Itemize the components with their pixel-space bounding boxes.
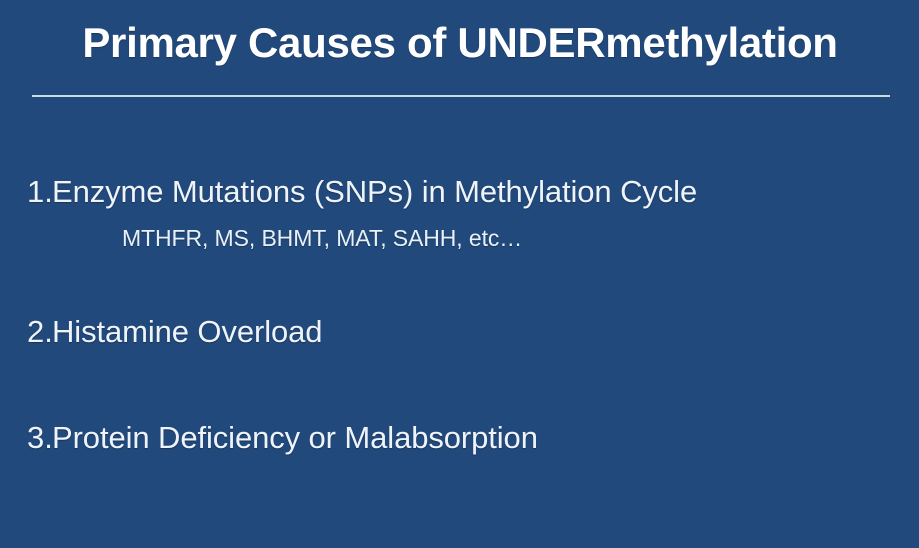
list-item: 2. Histamine Overload [0, 310, 919, 354]
causes-list: 1. Enzyme Mutations (SNPs) in Methylatio… [0, 170, 919, 460]
list-item-row: 3. Protein Deficiency or Malabsorption [0, 416, 919, 460]
list-item-subtext: MTHFR, MS, BHMT, MAT, SAHH, etc… [122, 223, 919, 253]
list-item-row: 1. Enzyme Mutations (SNPs) in Methylatio… [0, 170, 919, 214]
page-title: Primary Causes of UNDERmethylation [30, 14, 890, 72]
list-item: 1. Enzyme Mutations (SNPs) in Methylatio… [0, 170, 919, 253]
list-item-label: Enzyme Mutations (SNPs) in Methylation C… [52, 170, 697, 214]
list-item-label: Protein Deficiency or Malabsorption [52, 416, 538, 460]
list-item-number: 3. [0, 416, 52, 460]
title-divider [32, 95, 890, 97]
list-item-row: 2. Histamine Overload [0, 310, 919, 354]
list-item: 3. Protein Deficiency or Malabsorption [0, 416, 919, 460]
list-item-number: 2. [0, 310, 52, 354]
list-item-number: 1. [0, 170, 52, 214]
list-item-label: Histamine Overload [52, 310, 322, 354]
presentation-slide: Primary Causes of UNDERmethylation 1. En… [0, 0, 919, 548]
slide-header: Primary Causes of UNDERmethylation [0, 0, 919, 100]
